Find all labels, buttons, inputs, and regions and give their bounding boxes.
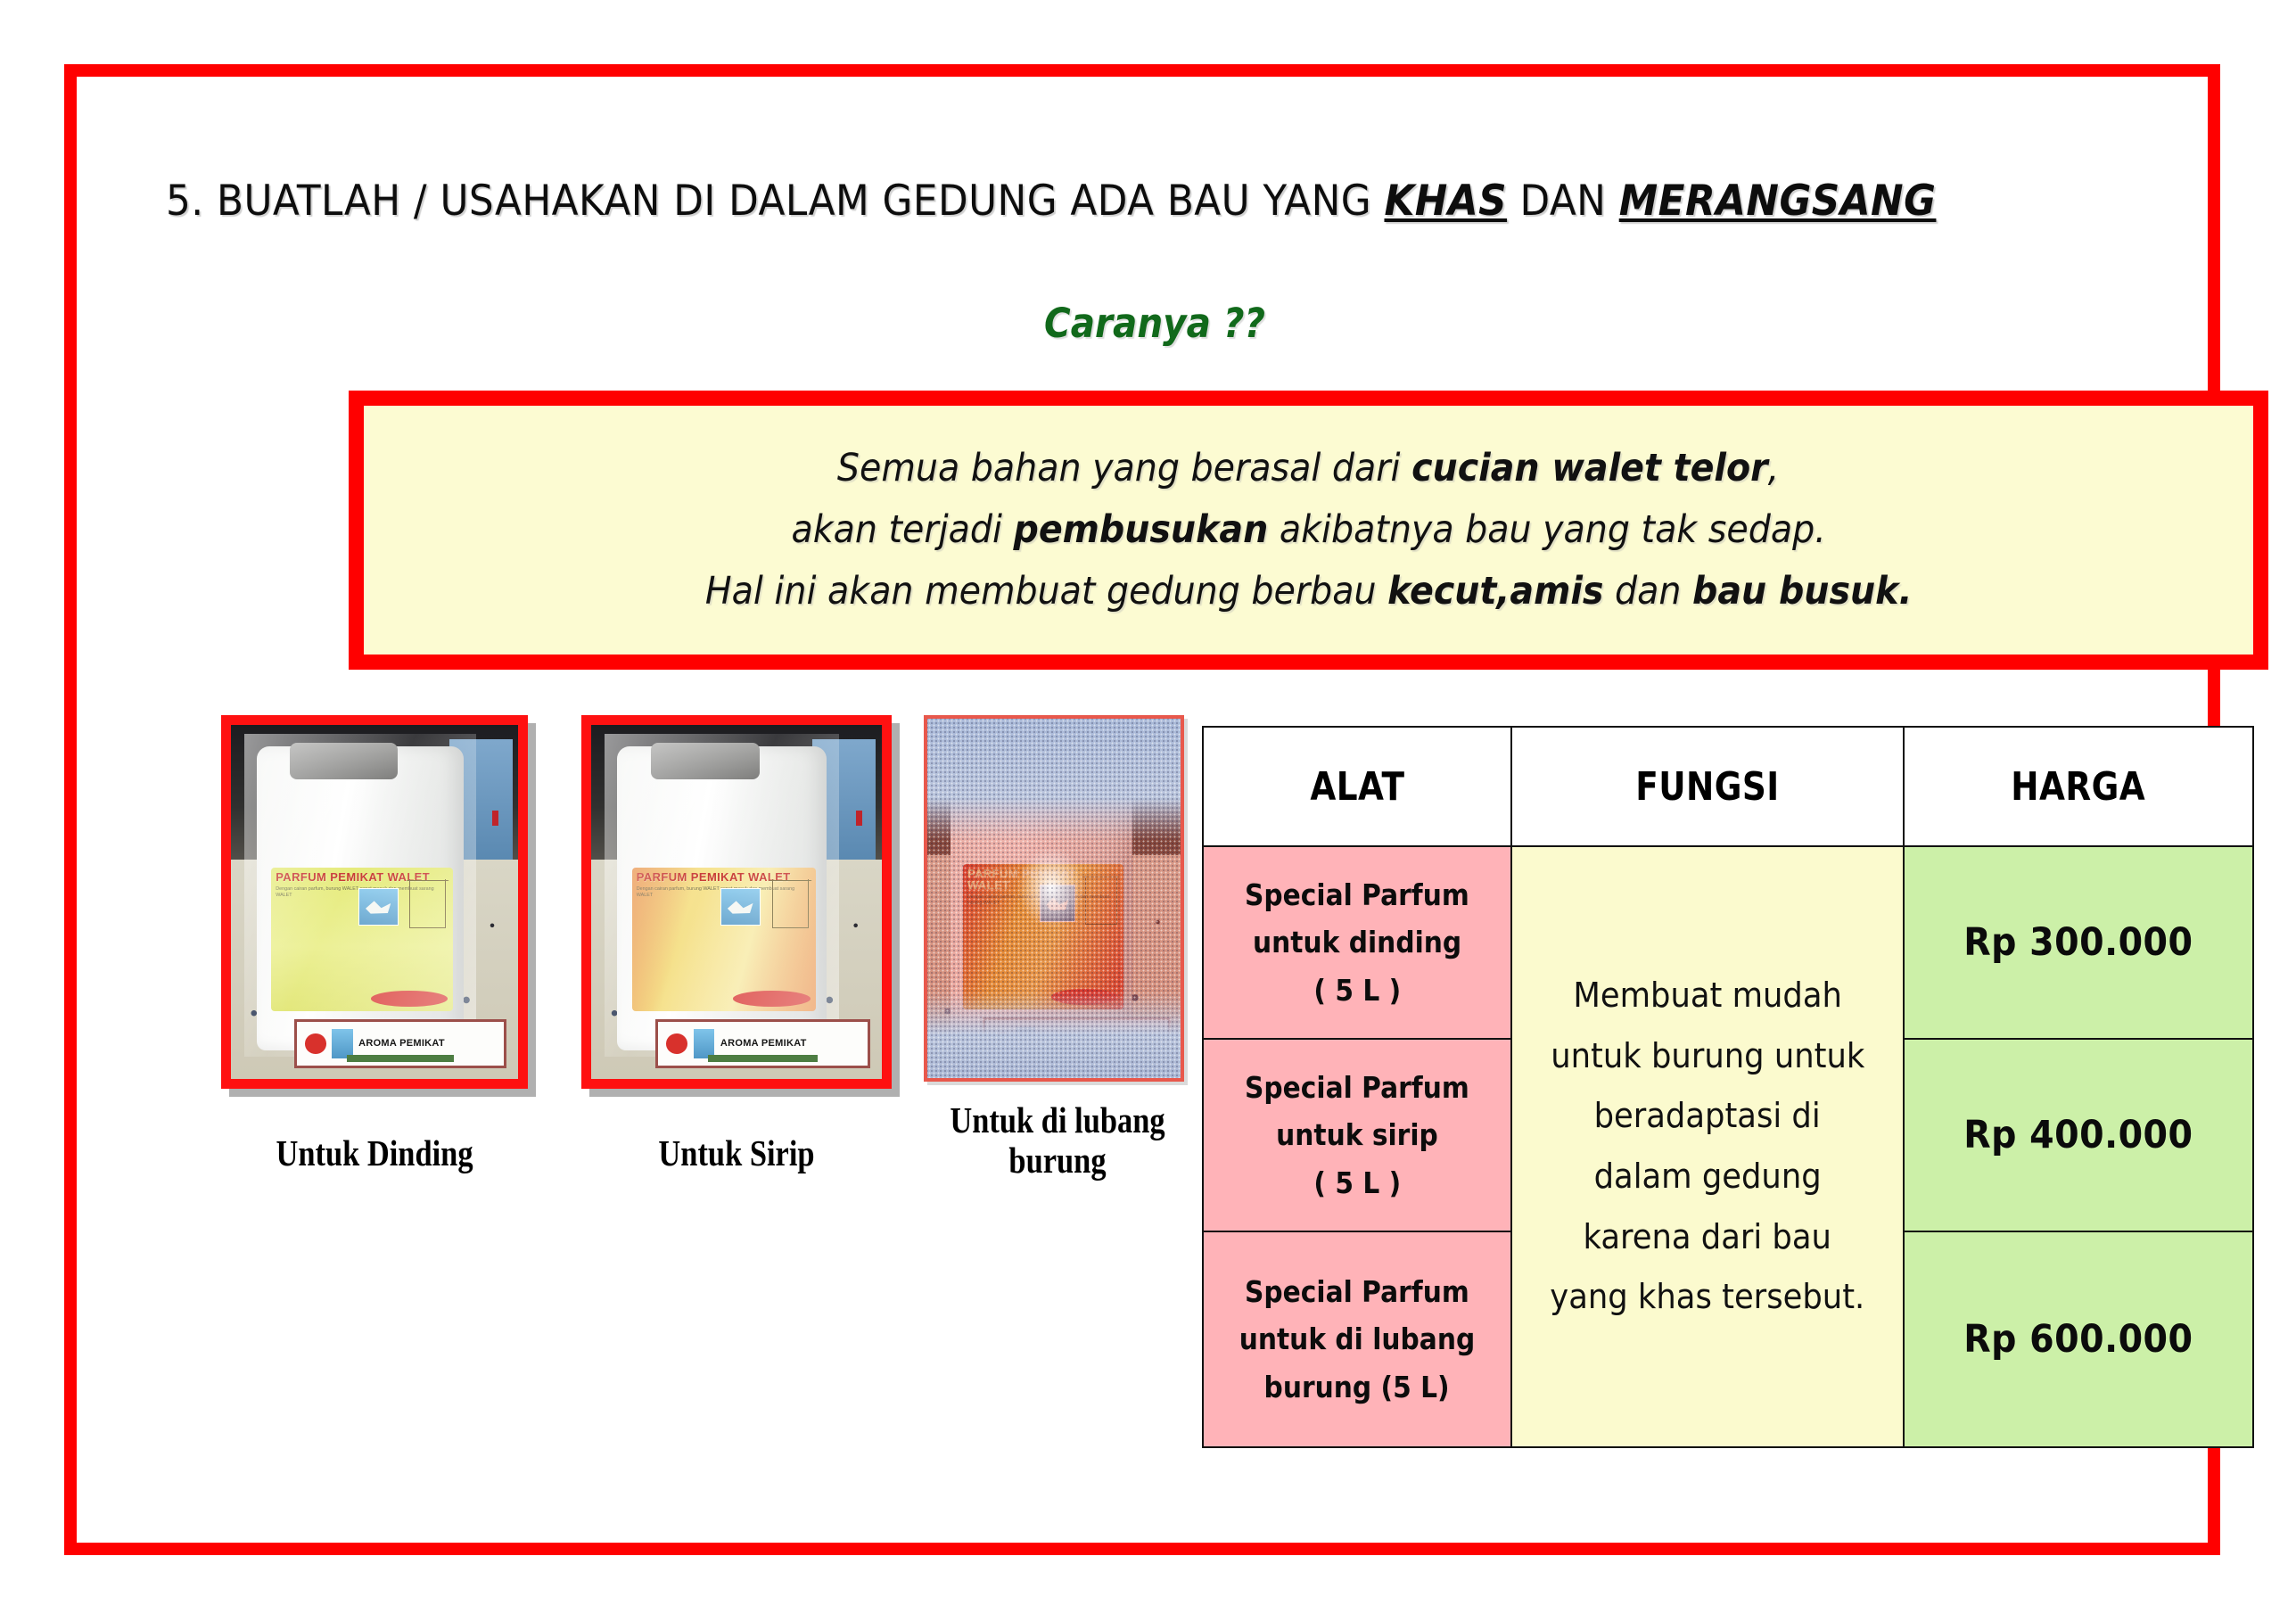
jerrycan-container: PARFUM PEMIKAT WALET Dengan cairan parfu… xyxy=(257,746,464,1050)
cell-harga-1-value: Rp 300.000 xyxy=(1963,920,2193,965)
photo-scene: PARFUM PEMIKAT WALET Dengan cairan parfu… xyxy=(927,719,1181,1078)
birdhouse-icon xyxy=(409,879,446,928)
callout-box: Semua bahan yang berasal dari cucian wal… xyxy=(349,391,2268,670)
cell-alat-3-line-1: Special Parfum xyxy=(1245,1268,1469,1315)
table-header-harga-label: HARGA xyxy=(2012,764,2146,810)
sign-text: AROMA PEMIKAT xyxy=(1040,1037,1126,1047)
baru-badge-icon xyxy=(666,1033,687,1054)
callout-line-3-c: dan xyxy=(1603,569,1692,613)
product-photo-lubang-burung: PARFUM PEMIKAT WALET Dengan cairan parfu… xyxy=(924,715,1184,1082)
page-title: 5. BUATLAH / USAHAKAN DI DALAM GEDUNG AD… xyxy=(166,177,2015,226)
price-table: ALAT FUNGSI HARGA Special Parfum untuk d… xyxy=(1202,726,2254,1448)
sign-green-bar xyxy=(1029,1053,1123,1060)
callout-line-1: Semua bahan yang berasal dari cucian wal… xyxy=(837,438,1779,499)
cell-alat-2-line-2: untuk sirip xyxy=(1276,1111,1438,1158)
table-row: Special Parfum untuk dinding ( 5 L ) Mem… xyxy=(1203,846,2253,1039)
photo-caption-lubang-burung: Untuk di lubang burung xyxy=(911,1100,1204,1181)
cell-fungsi-line-2: untuk burung untuk xyxy=(1551,1026,1864,1087)
sign-green-bar xyxy=(347,1055,455,1062)
baru-badge-icon xyxy=(305,1033,325,1054)
callout-line-2: akan terjadi pembusukan akibatnya bau ya… xyxy=(791,499,1825,561)
cell-alat-3-line-3: burung (5 L) xyxy=(1264,1363,1450,1411)
cell-fungsi-line-3: beradaptasi di xyxy=(1594,1086,1821,1147)
product-label: PARFUM PEMIKAT WALET Dengan cairan parfu… xyxy=(271,868,453,1010)
jerrycan-container: PARFUM PEMIKAT WALET Dengan cairan parfu… xyxy=(617,746,827,1050)
product-label: PARFUM PEMIKAT WALET Dengan cairan parfu… xyxy=(963,864,1123,1009)
bird-icon xyxy=(720,888,761,926)
headline-part-1: 5. BUATLAH / USAHAKAN DI DALAM GEDUNG AD… xyxy=(166,177,1384,226)
cell-harga-2: Rp 400.000 xyxy=(1904,1039,2253,1231)
table-header-row: ALAT FUNGSI HARGA xyxy=(1203,727,2253,846)
label-red-oval xyxy=(1051,989,1119,1005)
birdhouse-icon xyxy=(1085,876,1117,925)
photo-caption-sirip: Untuk Sirip xyxy=(602,1133,871,1173)
photo-caption-dinding: Untuk Dinding xyxy=(216,1133,533,1173)
headline-emphasis-khas: KHAS xyxy=(1384,177,1507,226)
jerrycan-cap xyxy=(651,743,760,779)
aroma-pemikat-sign: AROMA PEMIKAT xyxy=(655,1019,870,1069)
table-header-alat: ALAT xyxy=(1203,727,1511,846)
jerrycan-container: PARFUM PEMIKAT WALET Dengan cairan parfu… xyxy=(950,740,1132,1050)
cell-harga-3: Rp 600.000 xyxy=(1904,1231,2253,1447)
cell-fungsi-line-4: dalam gedung xyxy=(1593,1147,1821,1207)
subtitle-caranya: Caranya ?? xyxy=(185,300,2125,347)
aroma-pemikat-sign: AROMA PEMIKAT xyxy=(983,1017,1170,1067)
cell-alat-1: Special Parfum untuk dinding ( 5 L ) xyxy=(1203,846,1511,1039)
slide-red-frame: 5. BUATLAH / USAHAKAN DI DALAM GEDUNG AD… xyxy=(64,64,2220,1555)
headline-emphasis-merangsang: MERANGSANG xyxy=(1619,177,1937,226)
cell-fungsi-line-1: Membuat mudah xyxy=(1573,966,1842,1026)
cell-fungsi-line-5: karena dari bau xyxy=(1584,1207,1831,1268)
cell-alat-2-line-1: Special Parfum xyxy=(1245,1064,1469,1111)
callout-line-3-a: Hal ini akan membuat gedung berbau xyxy=(705,569,1387,613)
cell-fungsi-line-6: yang khas tersebut. xyxy=(1550,1267,1864,1328)
product-photo-dinding: PARFUM PEMIKAT WALET Dengan cairan parfu… xyxy=(221,715,528,1089)
jerrycan-cap xyxy=(290,743,398,779)
cell-alat-1-line-1: Special Parfum xyxy=(1245,871,1469,918)
cell-alat-2: Special Parfum untuk sirip ( 5 L ) xyxy=(1203,1039,1511,1231)
callout-line-2-bold: pembusukan xyxy=(1013,507,1268,552)
callout-line-3: Hal ini akan membuat gedung berbau kecut… xyxy=(705,561,1913,622)
cell-alat-3-line-2: untuk di lubang xyxy=(1239,1315,1476,1363)
table-header-fungsi-label: FUNGSI xyxy=(1635,764,1779,810)
callout-line-2-a: akan terjadi xyxy=(791,507,1013,552)
bird-icon xyxy=(1040,885,1075,922)
aroma-pemikat-sign: AROMA PEMIKAT xyxy=(294,1019,506,1069)
callout-line-2-c: akibatnya bau yang tak sedap. xyxy=(1268,507,1826,552)
cell-alat-3: Special Parfum untuk di lubang burung (5… xyxy=(1203,1231,1511,1447)
callout-line-3-bold-1: kecut,amis xyxy=(1387,569,1603,613)
birdhouse-icon xyxy=(772,879,809,928)
table-header-alat-label: ALAT xyxy=(1310,764,1404,810)
cell-harga-3-value: Rp 600.000 xyxy=(1963,1317,2193,1362)
photo-scene: PARFUM PEMIKAT WALET Dengan cairan parfu… xyxy=(591,725,882,1079)
cell-fungsi-merged: Membuat mudah untuk burung untuk beradap… xyxy=(1511,846,1904,1447)
headline-part-2: DAN xyxy=(1507,177,1619,226)
cell-alat-1-line-3: ( 5 L ) xyxy=(1313,967,1401,1014)
sign-text: AROMA PEMIKAT xyxy=(720,1039,807,1049)
label-red-oval xyxy=(371,991,448,1007)
cell-harga-1: Rp 300.000 xyxy=(1904,846,2253,1039)
cell-alat-1-line-2: untuk dinding xyxy=(1253,918,1461,966)
cell-harga-2-value: Rp 400.000 xyxy=(1963,1113,2193,1157)
photo-scene: PARFUM PEMIKAT WALET Dengan cairan parfu… xyxy=(231,725,518,1079)
callout-line-1-c: , xyxy=(1768,446,1780,490)
baru-badge-icon xyxy=(993,1032,1012,1052)
sign-text: AROMA PEMIKAT xyxy=(358,1039,445,1049)
table-header-fungsi: FUNGSI xyxy=(1511,727,1904,846)
callout-line-1-a: Semua bahan yang berasal dari xyxy=(837,446,1411,490)
bird-icon xyxy=(358,888,399,926)
table-header-harga: HARGA xyxy=(1904,727,2253,846)
callout-line-1-bold: cucian walet telor xyxy=(1412,446,1769,490)
product-label: PARFUM PEMIKAT WALET Dengan cairan parfu… xyxy=(632,868,817,1010)
sign-green-bar xyxy=(708,1055,817,1062)
callout-line-3-bold-2: bau busuk. xyxy=(1692,569,1912,613)
label-red-oval xyxy=(733,991,811,1007)
cell-alat-2-line-3: ( 5 L ) xyxy=(1313,1159,1401,1206)
product-photo-sirip: PARFUM PEMIKAT WALET Dengan cairan parfu… xyxy=(581,715,892,1089)
